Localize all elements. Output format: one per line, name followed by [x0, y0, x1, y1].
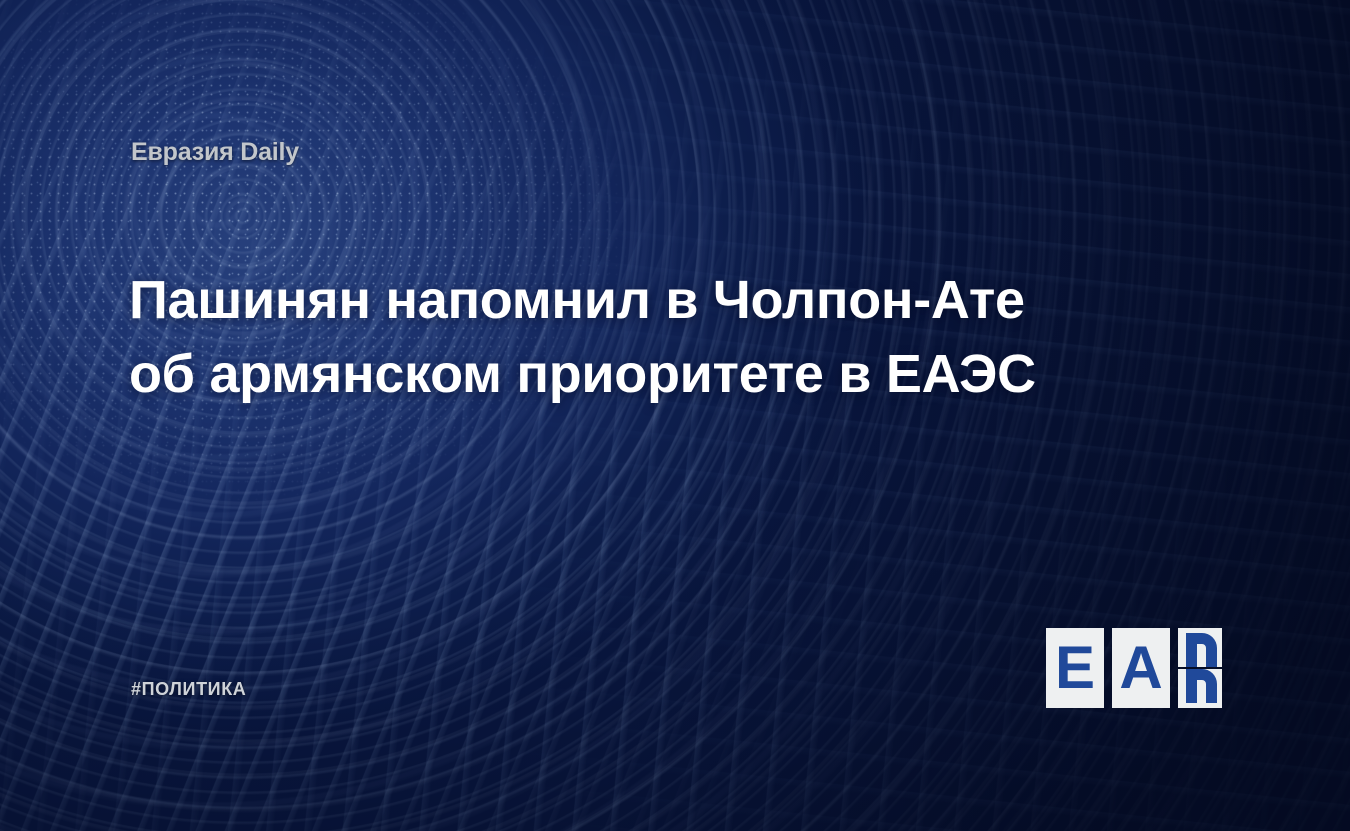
logo-tile-a: A: [1112, 628, 1170, 708]
eadaily-logo[interactable]: E A: [1046, 628, 1222, 708]
headline-line-2: об армянском приоритете в ЕАЭС: [129, 338, 1109, 412]
logo-tile-e: E: [1046, 628, 1104, 708]
logo-tile-d-top: [1178, 628, 1222, 667]
category-tag[interactable]: #ПОЛИТИКА: [131, 679, 246, 700]
brand-wordmark: Евразия Daily: [131, 138, 299, 167]
headline: Пашинян напомнил в Чолпон-Ате об армянск…: [129, 264, 1109, 412]
logo-tile-d-bottom: [1178, 669, 1222, 708]
news-card: Евразия Daily Пашинян напомнил в Чолпон-…: [0, 0, 1350, 831]
card-content: Евразия Daily Пашинян напомнил в Чолпон-…: [0, 0, 1350, 831]
headline-line-1: Пашинян напомнил в Чолпон-Ате: [129, 264, 1109, 338]
